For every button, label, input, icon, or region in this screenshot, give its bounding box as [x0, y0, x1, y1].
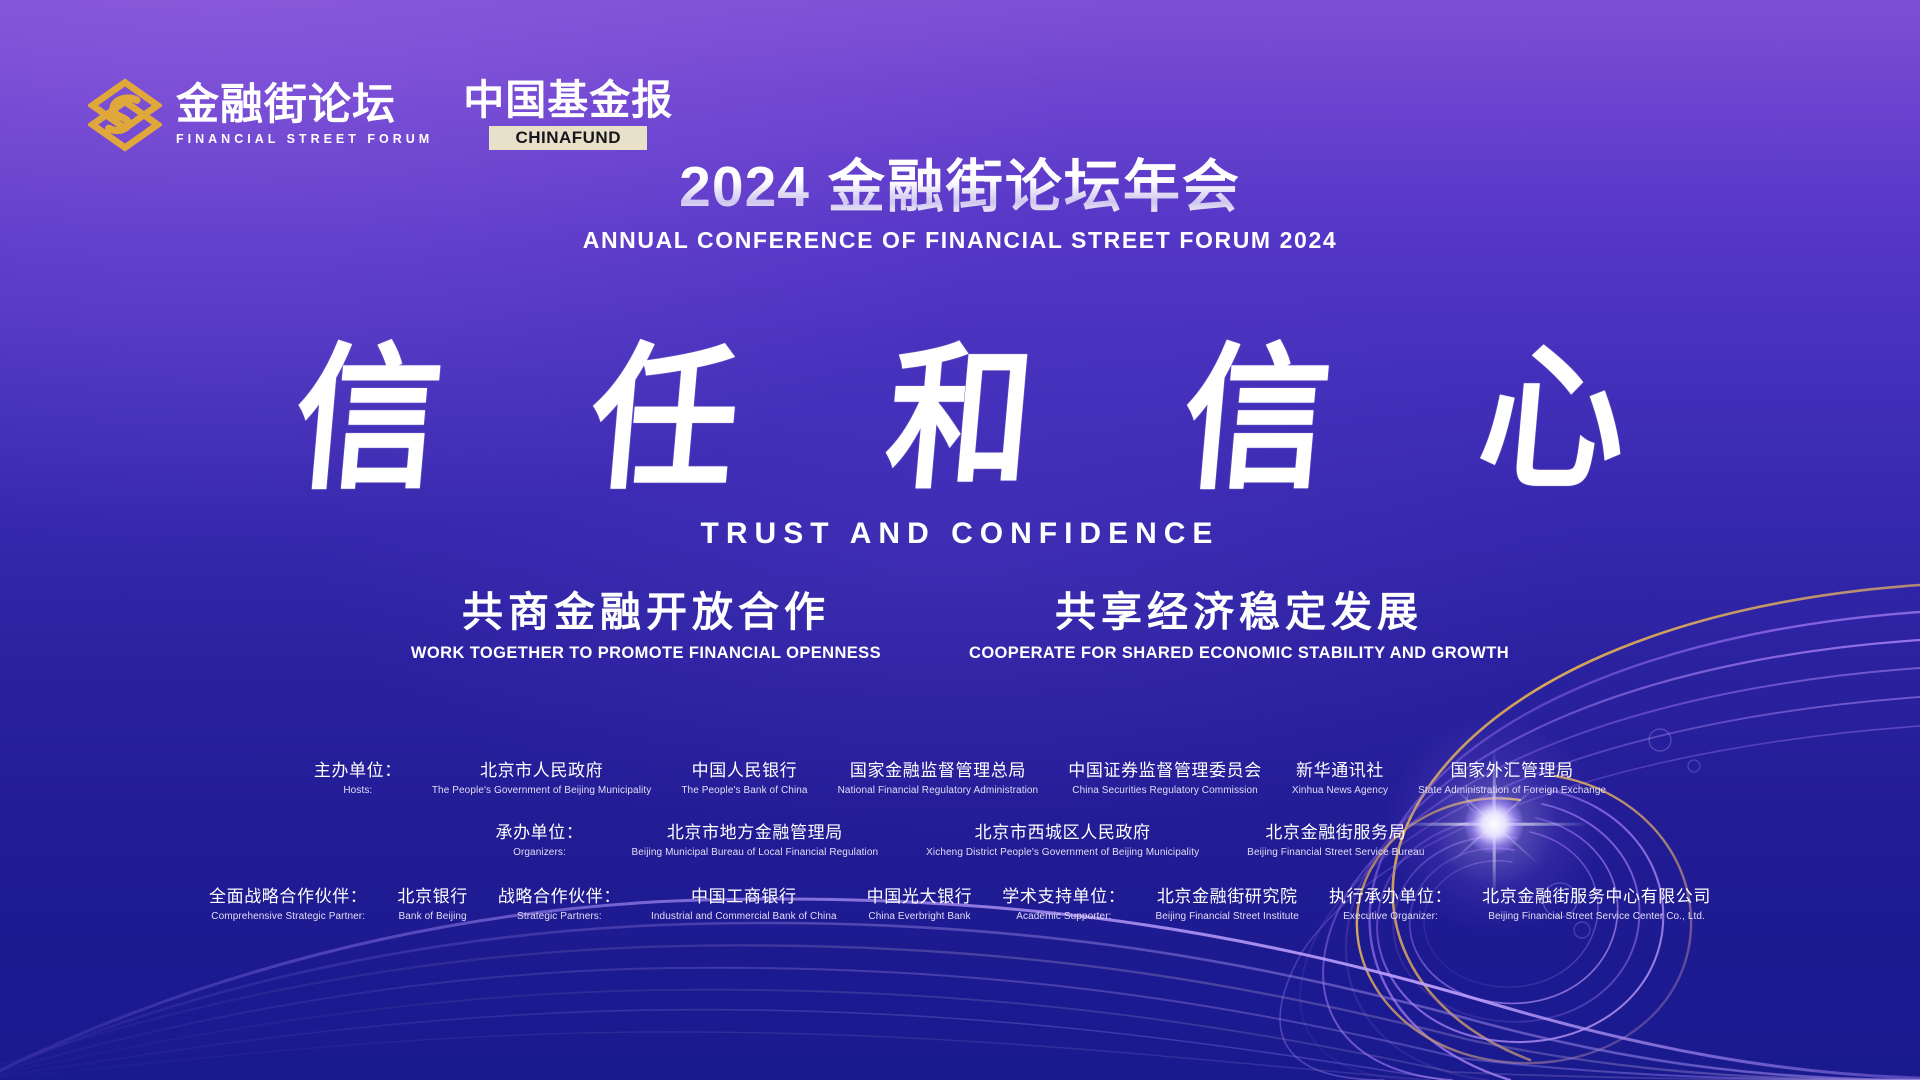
theme-calligraphy-en: TRUST AND CONFIDENCE	[0, 517, 1920, 551]
credits-partner-5-en: Beijing Financial Street Service Center …	[1482, 911, 1711, 924]
credits-host-6-en: State Administration of Foreign Exchange	[1418, 785, 1606, 798]
slogan-row: 共商金融开放合作 WORK TOGETHER TO PROMOTE FINANC…	[0, 588, 1920, 663]
conference-title-en: ANNUAL CONFERENCE OF FINANCIAL STREET FO…	[0, 227, 1920, 254]
credits-partner-3-cn: 中国光大银行	[867, 886, 973, 907]
credits-label-academic-supporter-en: Academic Supporter:	[1002, 911, 1125, 924]
credits-label-organizers-cn: 承办单位：	[495, 822, 583, 843]
credits-partner-1-cn: 北京银行	[397, 886, 467, 907]
credits-row-hosts: 主办单位： Hosts: 北京市人民政府 The People's Govern…	[0, 760, 1920, 798]
credits-label-academic-supporter-cn: 学术支持单位：	[1002, 886, 1125, 907]
credits-partner-4-en: Beijing Financial Street Institute	[1155, 911, 1298, 924]
conference-title-block: 2024 金融街论坛年会 ANNUAL CONFERENCE OF FINANC…	[0, 155, 1920, 254]
credits-partner-2-en: Industrial and Commercial Bank of China	[651, 911, 837, 924]
credits-block: 主办单位： Hosts: 北京市人民政府 The People's Govern…	[0, 760, 1920, 923]
conference-year: 2024	[679, 155, 810, 219]
credits-label-comprehensive-partner-cn: 全面战略合作伙伴：	[209, 886, 367, 907]
credits-organizer-3-cn: 北京金融街服务局	[1247, 822, 1424, 843]
slogan-right: 共享经济稳定发展 COOPERATE FOR SHARED ECONOMIC S…	[969, 588, 1509, 663]
theme-block: 信 任 和 信 心 TRUST AND CONFIDENCE	[0, 338, 1920, 551]
credits-label-hosts-en: Hosts:	[314, 785, 402, 798]
credits-host-1-en: The People's Government of Beijing Munic…	[432, 785, 652, 798]
credits-host-3-en: National Financial Regulatory Administra…	[838, 785, 1039, 798]
credits-host-5-en: Xinhua News Agency	[1292, 785, 1388, 798]
credits-label-executive-organizer: 执行承办单位： Executive Organizer:	[1329, 886, 1452, 924]
credits-partner-4-cn: 北京金融街研究院	[1155, 886, 1298, 907]
credits-label-organizers: 承办单位： Organizers:	[495, 822, 583, 860]
credits-host-3: 国家金融监督管理总局 National Financial Regulatory…	[838, 760, 1039, 798]
credits-label-executive-organizer-en: Executive Organizer:	[1329, 911, 1452, 924]
credits-label-organizers-en: Organizers:	[495, 847, 583, 860]
credits-row-organizers: 承办单位： Organizers: 北京市地方金融管理局 Beijing Mun…	[0, 822, 1920, 860]
chinafund-badge: CHINAFUND	[489, 126, 647, 150]
slogan-right-cn: 共享经济稳定发展	[969, 588, 1509, 636]
credits-partner-2-cn: 中国工商银行	[651, 886, 837, 907]
chinafund-logo: 中国基金报 CHINAFUND	[463, 79, 673, 150]
theme-calligraphy-cn: 信 任 和 信 心	[237, 328, 1683, 513]
credits-host-1-cn: 北京市人民政府	[432, 760, 652, 781]
credits-partner-1-en: Bank of Beijing	[397, 911, 467, 924]
fsf-logo-en: FINANCIAL STREET FORUM	[176, 132, 433, 147]
logo-bar: 金融街论坛 FINANCIAL STREET FORUM 中国基金报 CHINA…	[88, 78, 673, 152]
credits-host-4: 中国证券监督管理委员会 China Securities Regulatory …	[1068, 760, 1262, 798]
credits-organizer-1-en: Beijing Municipal Bureau of Local Financ…	[631, 847, 878, 860]
slogan-right-en: COOPERATE FOR SHARED ECONOMIC STABILITY …	[969, 644, 1509, 663]
credits-partner-2: 中国工商银行 Industrial and Commercial Bank of…	[651, 886, 837, 924]
slogan-left-en: WORK TOGETHER TO PROMOTE FINANCIAL OPENN…	[411, 644, 881, 663]
credits-organizer-2-en: Xicheng District People's Government of …	[926, 847, 1199, 860]
credits-host-4-cn: 中国证券监督管理委员会	[1068, 760, 1262, 781]
credits-label-strategic-partners-cn: 战略合作伙伴：	[498, 886, 621, 907]
credits-host-6: 国家外汇管理局 State Administration of Foreign …	[1418, 760, 1606, 798]
credits-host-2: 中国人民银行 The People's Bank of China	[681, 760, 807, 798]
credits-host-5-cn: 新华通讯社	[1292, 760, 1388, 781]
credits-row-partners: 全面战略合作伙伴： Comprehensive Strategic Partne…	[0, 886, 1920, 924]
credits-partner-5-cn: 北京金融街服务中心有限公司	[1482, 886, 1711, 907]
credits-host-3-cn: 国家金融监督管理总局	[838, 760, 1039, 781]
conference-title-cn: 2024 金融街论坛年会	[0, 155, 1920, 220]
credits-organizer-1-cn: 北京市地方金融管理局	[631, 822, 878, 843]
credits-label-hosts-cn: 主办单位：	[314, 760, 402, 781]
credits-host-1: 北京市人民政府 The People's Government of Beiji…	[432, 760, 652, 798]
credits-partner-1: 北京银行 Bank of Beijing	[397, 886, 467, 924]
fsf-diamond-mark-icon	[88, 78, 162, 152]
credits-partner-4: 北京金融街研究院 Beijing Financial Street Instit…	[1155, 886, 1298, 924]
credits-label-strategic-partners-en: Strategic Partners:	[498, 911, 621, 924]
credits-organizer-1: 北京市地方金融管理局 Beijing Municipal Bureau of L…	[631, 822, 878, 860]
credits-host-2-en: The People's Bank of China	[681, 785, 807, 798]
credits-host-5: 新华通讯社 Xinhua News Agency	[1292, 760, 1388, 798]
financial-street-forum-logo: 金融街论坛 FINANCIAL STREET FORUM	[88, 78, 433, 152]
credits-organizer-2: 北京市西城区人民政府 Xicheng District People's Gov…	[926, 822, 1199, 860]
credits-organizer-3: 北京金融街服务局 Beijing Financial Street Servic…	[1247, 822, 1424, 860]
conference-backdrop: 金融街论坛 FINANCIAL STREET FORUM 中国基金报 CHINA…	[0, 0, 1920, 1080]
credits-partner-3: 中国光大银行 China Everbright Bank	[867, 886, 973, 924]
credits-label-hosts: 主办单位： Hosts:	[314, 760, 402, 798]
fsf-logo-cn: 金融街论坛	[176, 83, 433, 129]
credits-organizer-3-en: Beijing Financial Street Service Bureau	[1247, 847, 1424, 860]
credits-label-strategic-partners: 战略合作伙伴： Strategic Partners:	[498, 886, 621, 924]
credits-partner-3-en: China Everbright Bank	[867, 911, 973, 924]
credits-partner-5: 北京金融街服务中心有限公司 Beijing Financial Street S…	[1482, 886, 1711, 924]
credits-organizer-2-cn: 北京市西城区人民政府	[926, 822, 1199, 843]
credits-host-6-cn: 国家外汇管理局	[1418, 760, 1606, 781]
slogan-left: 共商金融开放合作 WORK TOGETHER TO PROMOTE FINANC…	[411, 588, 881, 663]
credits-label-comprehensive-partner: 全面战略合作伙伴： Comprehensive Strategic Partne…	[209, 886, 367, 924]
chinafund-logo-cn: 中国基金报	[463, 79, 673, 122]
credits-label-academic-supporter: 学术支持单位： Academic Supporter:	[1002, 886, 1125, 924]
credits-label-executive-organizer-cn: 执行承办单位：	[1329, 886, 1452, 907]
credits-host-2-cn: 中国人民银行	[681, 760, 807, 781]
slogan-left-cn: 共商金融开放合作	[411, 588, 881, 636]
credits-label-comprehensive-partner-en: Comprehensive Strategic Partner:	[209, 911, 367, 924]
conference-title-text: 金融街论坛年会	[828, 155, 1241, 219]
credits-host-4-en: China Securities Regulatory Commission	[1068, 785, 1262, 798]
